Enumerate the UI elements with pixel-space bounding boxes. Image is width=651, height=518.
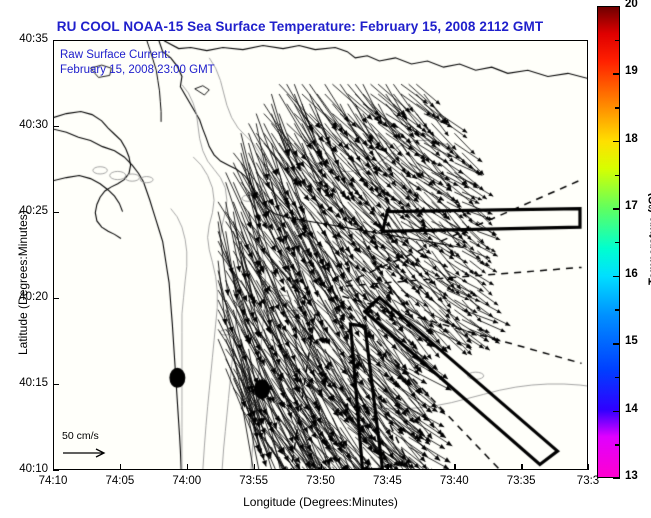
colorbar-minor-tick — [615, 444, 620, 445]
scale-legend-label: 50 cm/s — [62, 430, 99, 442]
colorbar-tick — [613, 208, 620, 209]
y-tick — [53, 40, 59, 41]
sst-map-figure: RU COOL NOAA-15 Sea Surface Temperature:… — [0, 0, 651, 518]
x-tick-label: 73:55 — [224, 475, 284, 487]
colorbar-tick-label: 18 — [625, 133, 638, 145]
y-tick-label: 40:35 — [2, 33, 48, 45]
current-annotation: Raw Surface Current: February 15, 2008 2… — [60, 48, 215, 78]
figure-title: RU COOL NOAA-15 Sea Surface Temperature:… — [0, 19, 600, 34]
colorbar-tick — [613, 343, 620, 344]
x-tick — [321, 464, 322, 470]
colorbar-minor-tick — [615, 309, 620, 310]
colorbar-minor-tick — [615, 377, 620, 378]
right-arrow-icon — [63, 448, 109, 458]
x-tick — [254, 464, 255, 470]
colorbar-tick-label: 20 — [625, 0, 638, 10]
colorbar-tick-label: 14 — [625, 403, 638, 415]
x-tick — [454, 464, 455, 470]
x-axis-title: Longitude (Degrees:Minutes) — [53, 495, 588, 509]
colorbar-tick-label: 17 — [625, 200, 638, 212]
x-tick — [187, 464, 188, 470]
y-tick-label: 40:30 — [2, 119, 48, 131]
annotation-line-1: Raw Surface Current: — [60, 48, 215, 63]
colorbar-tick — [613, 6, 620, 7]
y-tick — [53, 298, 59, 299]
colorbar-tick-label: 15 — [625, 335, 638, 347]
x-tick-label: 73:35 — [491, 475, 551, 487]
colorbar-tick-label: 19 — [625, 65, 638, 77]
x-tick-label: 74:05 — [90, 475, 150, 487]
y-tick — [53, 212, 59, 213]
y-tick — [53, 384, 59, 385]
x-tick — [387, 464, 388, 470]
x-tick — [521, 464, 522, 470]
colorbar-tick — [613, 73, 620, 74]
colorbar-tick — [613, 478, 620, 479]
colorbar-minor-tick — [615, 175, 620, 176]
x-tick-label: 73:45 — [357, 475, 417, 487]
colorbar-tick-label: 16 — [625, 268, 638, 280]
colorbar-tick — [613, 141, 620, 142]
x-tick-label: 74:00 — [157, 475, 217, 487]
colorbar-tick — [613, 276, 620, 277]
colorbar-minor-tick — [615, 40, 620, 41]
y-tick-label: 40:10 — [2, 463, 48, 475]
x-tick — [120, 464, 121, 470]
x-tick-label: 74:10 — [23, 475, 83, 487]
y-tick-label: 40:15 — [2, 377, 48, 389]
annotation-line-2: February 15, 2008 23:00 GMT — [60, 63, 215, 78]
x-tick-label: 73:40 — [424, 475, 484, 487]
colorbar-tick-label: 13 — [625, 470, 638, 482]
y-tick — [53, 470, 59, 471]
y-tick — [53, 126, 59, 127]
colorbar-minor-tick — [615, 107, 620, 108]
colorbar-minor-tick — [615, 242, 620, 243]
colorbar-tick — [613, 411, 620, 412]
map-canvas — [54, 41, 587, 469]
x-tick — [588, 464, 589, 470]
y-axis-title: Latitude (Degrees:Minutes) — [16, 210, 30, 355]
x-tick-label: 73:50 — [291, 475, 351, 487]
